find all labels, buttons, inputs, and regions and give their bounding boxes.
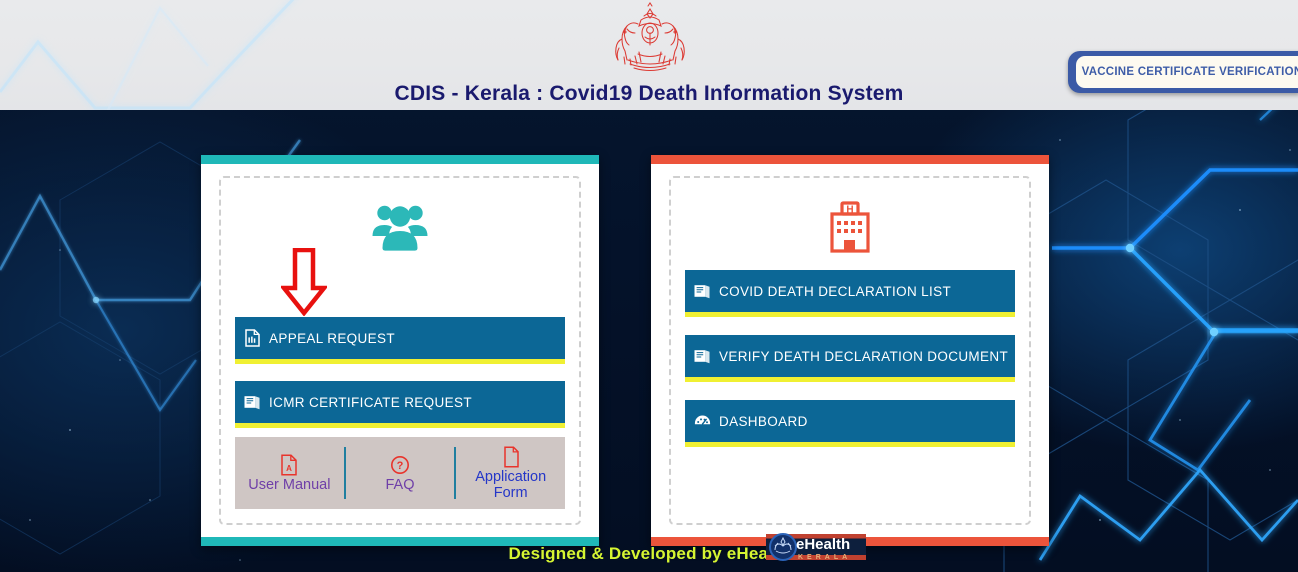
faq-label: FAQ (386, 477, 415, 493)
appeal-request-button[interactable]: APPEAL REQUEST (235, 317, 565, 364)
card-top-accent-bar (651, 155, 1049, 164)
verify-death-declaration-document-button[interactable]: VERIFY DEATH DECLARATION DOCUMENT (685, 335, 1015, 382)
resource-links-bar: A User Manual ? FAQ (235, 437, 565, 509)
svg-text:H: H (846, 205, 853, 216)
kerala-government-emblem (608, 2, 692, 72)
svg-text:A: A (286, 464, 292, 473)
cdis-kerala-portal: CDIS - Kerala : Covid19 Death Informatio… (0, 0, 1298, 572)
users-group-icon (370, 200, 430, 252)
vaccine-banner-inner: VACCINE CERTIFICATE VERIFICATION (1076, 56, 1298, 88)
svg-text:?: ? (397, 460, 404, 472)
file-document-icon (235, 329, 269, 347)
book-icon (685, 348, 719, 364)
blank-document-icon (501, 446, 521, 468)
dashboard-label: DASHBOARD (719, 414, 808, 429)
icmr-certificate-request-label: ICMR CERTIFICATE REQUEST (269, 395, 472, 410)
ehealth-kerala-logo: eHealth KERALA (766, 530, 866, 564)
vaccine-certificate-verification-button[interactable]: VACCINE CERTIFICATE VERIFICATION (1068, 51, 1298, 93)
book-icon (685, 283, 719, 299)
icmr-certificate-request-button[interactable]: ICMR CERTIFICATE REQUEST (235, 381, 565, 428)
question-circle-icon: ? (390, 454, 410, 476)
citizen-card-inner: APPEAL REQUEST ICMR CERTIFICATE REQUEST (219, 176, 581, 525)
citizen-services-card: APPEAL REQUEST ICMR CERTIFICATE REQUEST (201, 155, 599, 546)
footer-credit: Designed & Developed by eHealth (0, 544, 1298, 564)
institution-services-card: H (651, 155, 1049, 546)
hospital-icon-wrap: H (671, 200, 1029, 254)
application-form-link[interactable]: Application Form (456, 437, 565, 509)
svg-text:eHealth: eHealth (796, 536, 850, 553)
users-group-icon-wrap (221, 200, 579, 252)
card-top-accent-bar (201, 155, 599, 164)
gauge-dashboard-icon (685, 414, 719, 429)
hospital-building-icon: H (824, 200, 876, 254)
application-form-label: Application Form (456, 469, 565, 501)
covid-death-declaration-list-button[interactable]: COVID DEATH DECLARATION LIST (685, 270, 1015, 317)
book-icon (235, 394, 269, 410)
dashboard-button[interactable]: DASHBOARD (685, 400, 1015, 447)
user-manual-label: User Manual (248, 477, 330, 493)
covid-death-declaration-list-label: COVID DEATH DECLARATION LIST (719, 284, 951, 299)
faq-link[interactable]: ? FAQ (346, 437, 455, 509)
pdf-file-icon: A (279, 454, 299, 476)
vaccine-banner-label: VACCINE CERTIFICATE VERIFICATION (1076, 66, 1298, 78)
appeal-request-label: APPEAL REQUEST (269, 331, 395, 346)
user-manual-link[interactable]: A User Manual (235, 437, 344, 509)
ehealth-logo-subtitle: KERALA (798, 554, 851, 561)
institution-card-inner: H (669, 176, 1031, 525)
verify-death-declaration-document-label: VERIFY DEATH DECLARATION DOCUMENT (719, 349, 1008, 364)
